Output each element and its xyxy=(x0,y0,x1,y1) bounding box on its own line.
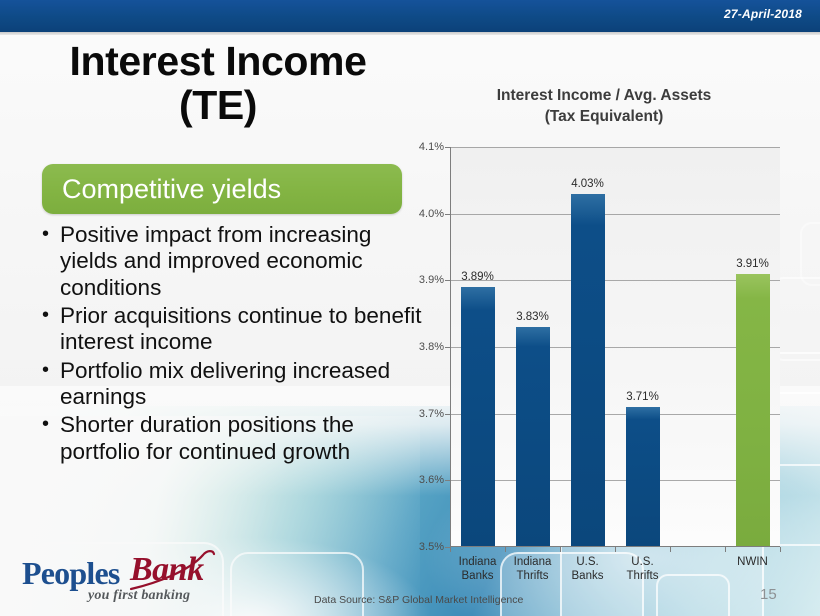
chart-y-axis xyxy=(450,147,451,547)
chart-x-axis-label-line2: Banks xyxy=(459,569,497,583)
chart-title-line1: Interest Income / Avg. Assets xyxy=(404,86,804,107)
chart-x-axis-label-line1: Indiana xyxy=(514,555,552,569)
chart-bar-fill xyxy=(516,327,550,547)
chart-x-tick-mark xyxy=(780,547,781,552)
chart-bar-value-label: 3.91% xyxy=(736,258,769,270)
chart-x-axis-label-line2: Thrifts xyxy=(627,569,659,583)
bullet-item: •Shorter duration positions the portfoli… xyxy=(42,412,422,465)
chart: Interest Income / Avg. Assets (Tax Equiv… xyxy=(404,86,804,556)
chart-gridline xyxy=(450,147,780,148)
chart-x-tick-mark xyxy=(450,547,451,552)
header-divider xyxy=(0,32,820,35)
slide: 27-April-2018 Interest Income (TE) Compe… xyxy=(0,0,820,616)
page-title-line1: Interest Income xyxy=(18,40,418,84)
chart-x-axis xyxy=(450,546,780,547)
logo-word-bank: Bank xyxy=(130,551,204,589)
chart-bar: 3.91% xyxy=(736,274,770,547)
chart-x-axis-label-line1: U.S. xyxy=(572,555,604,569)
bullet-list: •Positive impact from increasing yields … xyxy=(42,222,422,467)
chart-y-tick-label: 3.8% xyxy=(419,341,444,353)
chart-x-axis-label-line2: Thrifts xyxy=(514,569,552,583)
chart-y-tick-label: 4.0% xyxy=(419,208,444,220)
chart-plot-area: 3.5%3.6%3.7%3.8%3.9%4.0%4.1%3.89%Indiana… xyxy=(450,147,780,547)
chart-bar: 3.83% xyxy=(516,327,550,547)
chart-gridline xyxy=(450,480,780,481)
highlight-banner-label: Competitive yields xyxy=(42,176,281,203)
chart-x-axis-label: U.S.Banks xyxy=(572,555,604,584)
chart-bar-fill xyxy=(626,407,660,547)
chart-gridline xyxy=(450,414,780,415)
chart-x-tick-mark xyxy=(725,547,726,552)
page-title: Interest Income (TE) xyxy=(18,40,418,128)
logo-word-peoples: Peoples xyxy=(22,555,120,592)
page-title-line2: (TE) xyxy=(18,84,418,128)
bullet-text: Prior acquisitions continue to benefit i… xyxy=(60,303,422,356)
chart-bar: 4.03% xyxy=(571,194,605,547)
chart-gridline xyxy=(450,347,780,348)
chart-bar: 3.89% xyxy=(461,287,495,547)
logo-tagline: you first banking xyxy=(88,588,190,604)
slide-header-bar xyxy=(0,0,820,32)
data-source-note: Data Source: S&P Global Market Intellige… xyxy=(314,594,523,606)
chart-x-axis-label: U.S.Thrifts xyxy=(627,555,659,584)
chart-bar-fill xyxy=(461,287,495,547)
chart-bar-value-label: 3.83% xyxy=(516,311,549,323)
highlight-banner: Competitive yields xyxy=(42,164,402,214)
chart-x-axis-label-line1: Indiana xyxy=(459,555,497,569)
chart-bar-fill xyxy=(571,194,605,547)
chart-bar-value-label: 4.03% xyxy=(571,178,604,190)
chart-plot-inner: 3.5%3.6%3.7%3.8%3.9%4.0%4.1%3.89%Indiana… xyxy=(450,147,780,547)
page-number: 15 xyxy=(760,586,777,603)
decorative-rounded-rect xyxy=(656,574,730,616)
chart-bar-value-label: 3.89% xyxy=(461,271,494,283)
chart-title: Interest Income / Avg. Assets (Tax Equiv… xyxy=(404,86,804,128)
bullet-marker-icon: • xyxy=(42,412,60,465)
chart-x-tick-mark xyxy=(505,547,506,552)
chart-x-axis-label-line1: NWIN xyxy=(737,555,768,569)
chart-bar-fill xyxy=(736,274,770,547)
chart-x-axis-label-line2: Banks xyxy=(572,569,604,583)
logo: Peoples Bank you first banking xyxy=(22,553,222,601)
chart-x-axis-label: NWIN xyxy=(737,555,768,569)
bullet-marker-icon: • xyxy=(42,358,60,411)
chart-gridline xyxy=(450,280,780,281)
bullet-item: •Positive impact from increasing yields … xyxy=(42,222,422,301)
bullet-marker-icon: • xyxy=(42,303,60,356)
chart-x-axis-label: IndianaThrifts xyxy=(514,555,552,584)
header-date: 27-April-2018 xyxy=(724,7,802,21)
chart-y-tick-label: 4.1% xyxy=(419,141,444,153)
bullet-text: Positive impact from increasing yields a… xyxy=(60,222,422,301)
bullet-text: Portfolio mix delivering increased earni… xyxy=(60,358,422,411)
chart-x-tick-mark xyxy=(615,547,616,552)
chart-gridline xyxy=(450,214,780,215)
chart-y-tick-label: 3.9% xyxy=(419,274,444,286)
chart-bar-value-label: 3.71% xyxy=(626,391,659,403)
chart-x-axis-label-line1: U.S. xyxy=(627,555,659,569)
chart-y-tick-label: 3.5% xyxy=(419,541,444,553)
bullet-item: •Prior acquisitions continue to benefit … xyxy=(42,303,422,356)
bullet-item: •Portfolio mix delivering increased earn… xyxy=(42,358,422,411)
chart-title-line2: (Tax Equivalent) xyxy=(404,107,804,128)
bullet-marker-icon: • xyxy=(42,222,60,301)
chart-y-tick-label: 3.6% xyxy=(419,474,444,486)
chart-x-axis-label: IndianaBanks xyxy=(459,555,497,584)
chart-x-tick-mark xyxy=(670,547,671,552)
chart-x-tick-mark xyxy=(560,547,561,552)
chart-y-tick-label: 3.7% xyxy=(419,408,444,420)
chart-bar: 3.71% xyxy=(626,407,660,547)
bullet-text: Shorter duration positions the portfolio… xyxy=(60,412,422,465)
